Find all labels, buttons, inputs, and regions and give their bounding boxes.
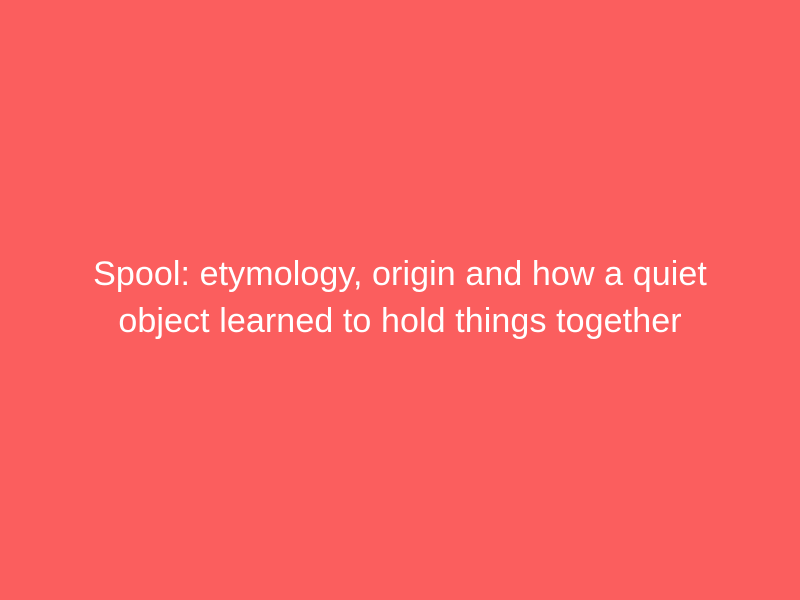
title-block: Spool: etymology, origin and how a quiet…	[40, 251, 760, 345]
share-card: Spool: etymology, origin and how a quiet…	[0, 0, 800, 600]
page-title: Spool: etymology, origin and how a quiet…	[56, 251, 744, 345]
